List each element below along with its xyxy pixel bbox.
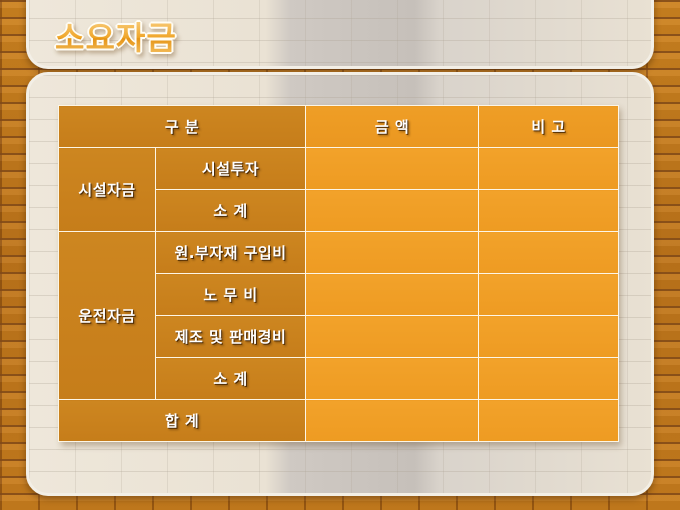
header-cell-amount: 금 액 [306, 106, 479, 148]
note-cell-operating-subtotal[interactable] [479, 358, 619, 400]
note-cell-manufacturing-selling-expense[interactable] [479, 316, 619, 358]
row-label-operating-subtotal: 소 계 [156, 358, 306, 400]
header-cell-note: 비 고 [479, 106, 619, 148]
note-cell-facility-subtotal[interactable] [479, 190, 619, 232]
row-label-facility-investment: 시설투자 [156, 148, 306, 190]
note-cell-raw-material-purchase[interactable] [479, 232, 619, 274]
amount-cell-facility-subtotal[interactable] [306, 190, 479, 232]
group-label-facility-fund: 시설자금 [59, 148, 156, 232]
row-label-facility-subtotal: 소 계 [156, 190, 306, 232]
amount-cell-manufacturing-selling-expense[interactable] [306, 316, 479, 358]
note-cell-facility-investment[interactable] [479, 148, 619, 190]
note-cell-grand-total[interactable] [479, 400, 619, 442]
table-row: 운전자금 원.부자재 구입비 [59, 232, 619, 274]
amount-cell-grand-total[interactable] [306, 400, 479, 442]
amount-cell-facility-investment[interactable] [306, 148, 479, 190]
row-label-labor-cost: 노 무 비 [156, 274, 306, 316]
slide: 소요자금 구 분 금 액 비 고 시설자금 시설투자 [0, 0, 680, 510]
title-banner: 소요자금 [26, 0, 654, 69]
header-cell-category: 구 분 [59, 106, 306, 148]
group-label-operating-fund: 운전자금 [59, 232, 156, 400]
page-title: 소요자금 [55, 22, 177, 54]
row-label-raw-material-purchase: 원.부자재 구입비 [156, 232, 306, 274]
row-label-grand-total: 합 계 [59, 400, 306, 442]
table-total-row: 합 계 [59, 400, 619, 442]
table-row: 시설자금 시설투자 [59, 148, 619, 190]
amount-cell-raw-material-purchase[interactable] [306, 232, 479, 274]
amount-cell-labor-cost[interactable] [306, 274, 479, 316]
amount-cell-operating-subtotal[interactable] [306, 358, 479, 400]
note-cell-labor-cost[interactable] [479, 274, 619, 316]
table-header-row: 구 분 금 액 비 고 [59, 106, 619, 148]
row-label-manufacturing-selling-expense: 제조 및 판매경비 [156, 316, 306, 358]
fund-table: 구 분 금 액 비 고 시설자금 시설투자 소 계 [58, 105, 619, 442]
fund-table-container: 구 분 금 액 비 고 시설자금 시설투자 소 계 [58, 105, 618, 442]
